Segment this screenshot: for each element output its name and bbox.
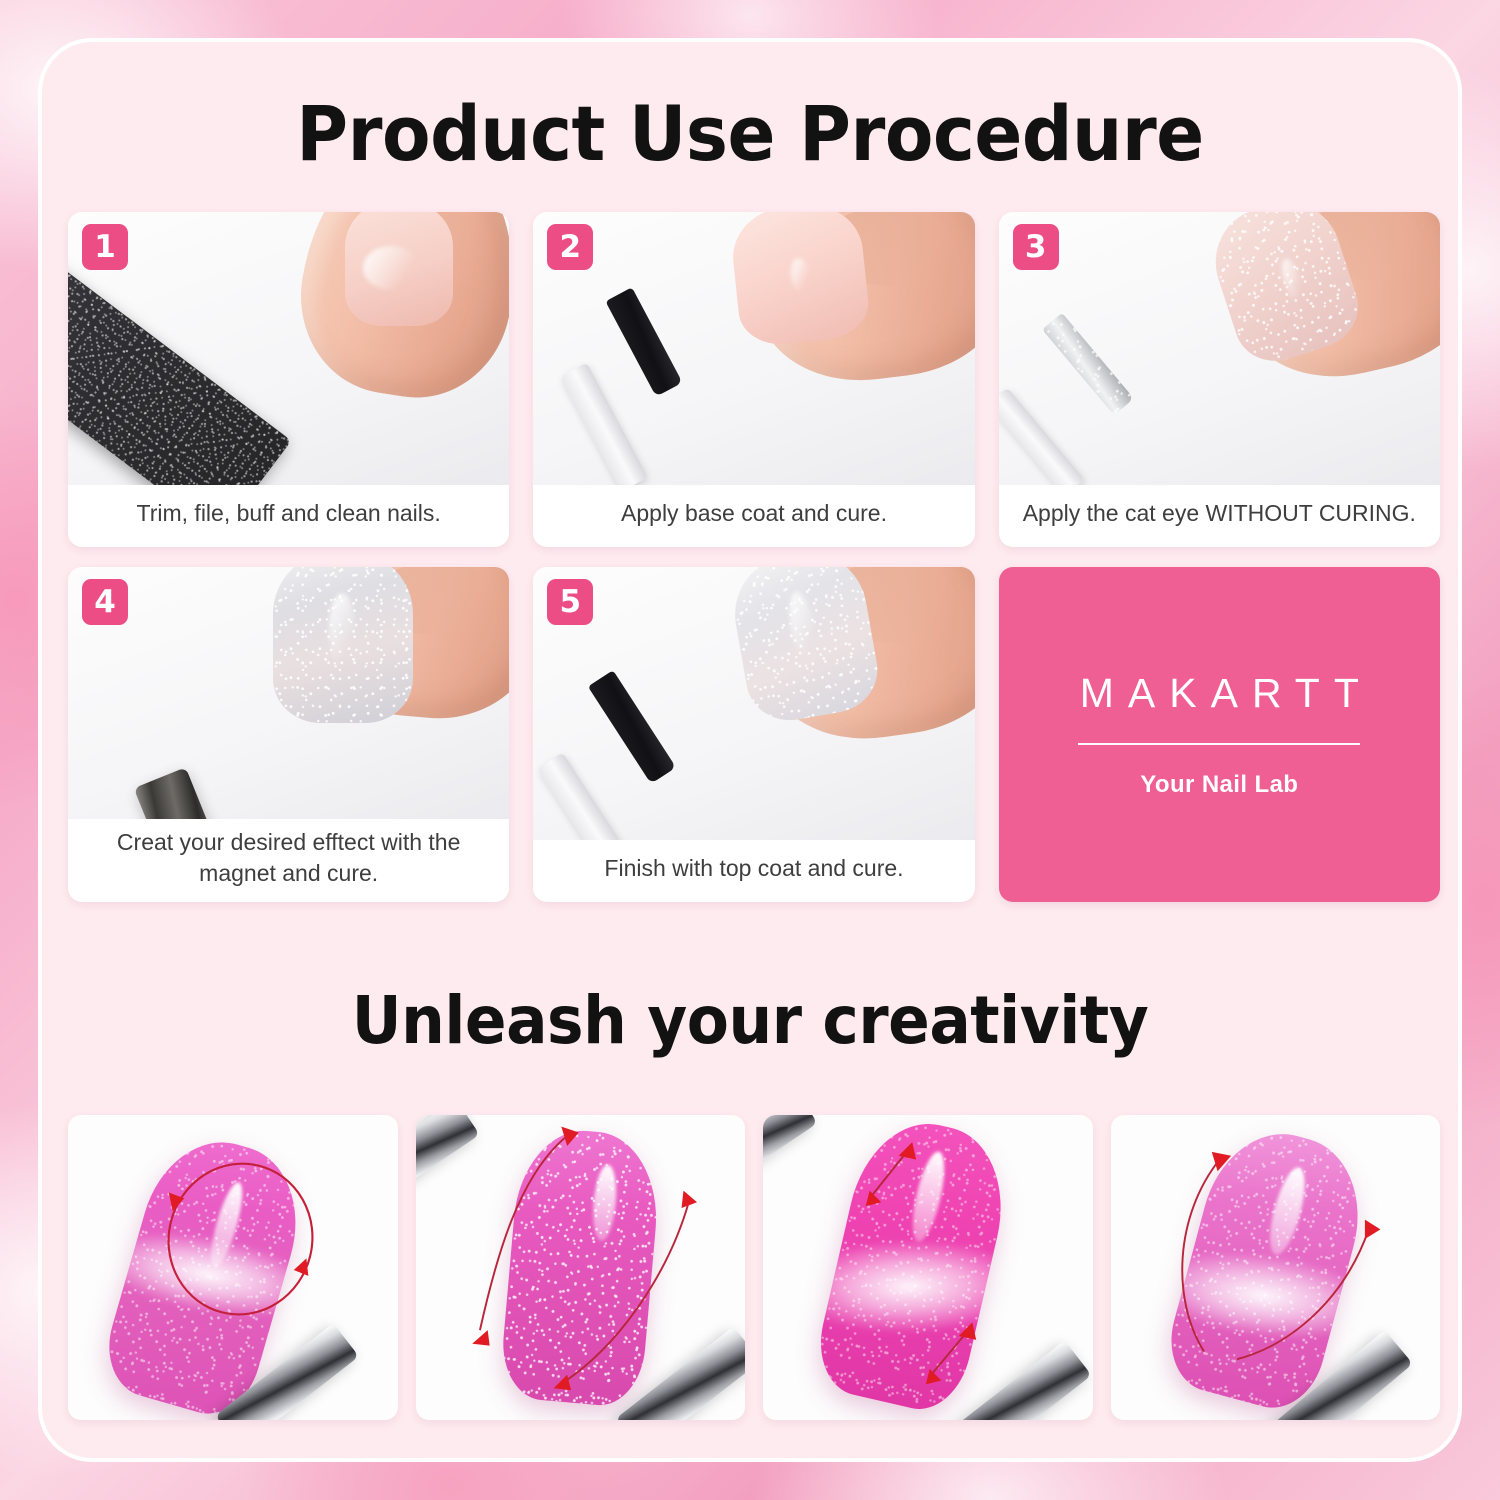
cat-eye-apply-scene — [999, 212, 1440, 485]
silver-cat-eye-nail — [273, 567, 413, 723]
creativity-gallery — [68, 1115, 1440, 1420]
step-caption: Trim, file, buff and clean nails. — [68, 485, 509, 547]
step-caption: Apply the cat eye WITHOUT CURING. — [999, 485, 1440, 547]
step-number-badge: 2 — [547, 224, 593, 270]
creativity-card[interactable] — [416, 1115, 746, 1420]
step-number-badge: 4 — [82, 579, 128, 625]
step-card[interactable]: 1 Trim, file, buff and clean nails. — [68, 212, 509, 547]
curved-up-arrows-icon — [1111, 1115, 1440, 1411]
page-title: Product Use Procedure — [92, 88, 1409, 180]
step-caption: Finish with top coat and cure. — [533, 840, 974, 902]
circular-arrow-icon — [68, 1115, 397, 1411]
base-coat-scene — [533, 212, 974, 485]
infographic-page: Product Use Procedure — [0, 0, 1500, 1500]
procedure-step-grid: 1 Trim, file, buff and clean nails. — [68, 212, 1440, 902]
step-photo: 3 — [999, 212, 1440, 485]
nail-file-scene — [68, 212, 509, 485]
creativity-card[interactable] — [763, 1115, 1093, 1420]
creativity-card[interactable] — [1111, 1115, 1441, 1420]
straight-double-arrows-icon — [763, 1115, 1092, 1411]
brand-divider — [1078, 743, 1360, 745]
curved-arrows-icon — [416, 1115, 745, 1411]
step-card[interactable]: 2 Apply base coat and cure. — [533, 212, 974, 547]
step-card[interactable]: 5 Finish with top coat and cure. — [533, 567, 974, 902]
natural-nail — [345, 212, 453, 326]
natural-nail — [728, 212, 872, 348]
creativity-card[interactable] — [68, 1115, 398, 1420]
step-photo: 1 — [68, 212, 509, 485]
step-photo: 4 — [68, 567, 509, 819]
step-caption: Apply base coat and cure. — [533, 485, 974, 547]
content-panel: Product Use Procedure — [38, 38, 1462, 1462]
step-number-badge: 1 — [82, 224, 128, 270]
brand-tagline: Your Nail Lab — [1140, 771, 1298, 799]
step-caption: Creat your desired efftect with the magn… — [68, 819, 509, 902]
section-subtitle: Unleash your creativity — [92, 980, 1409, 1062]
step-number-badge: 5 — [547, 579, 593, 625]
magnet-scene — [68, 567, 509, 819]
step-photo: 2 — [533, 212, 974, 485]
step-card[interactable]: 4 Creat your desired efftect with the ma… — [68, 567, 509, 902]
top-coat-scene — [533, 567, 974, 840]
brand-card: MAKARTT Your Nail Lab — [999, 567, 1440, 902]
step-card[interactable]: 3 Apply the cat eye WITHOUT CURING. — [999, 212, 1440, 547]
brand-logo-text: MAKARTT — [1066, 670, 1373, 717]
step-photo: 5 — [533, 567, 974, 840]
step-number-badge: 3 — [1013, 224, 1059, 270]
silver-cat-eye-nail — [726, 567, 884, 727]
